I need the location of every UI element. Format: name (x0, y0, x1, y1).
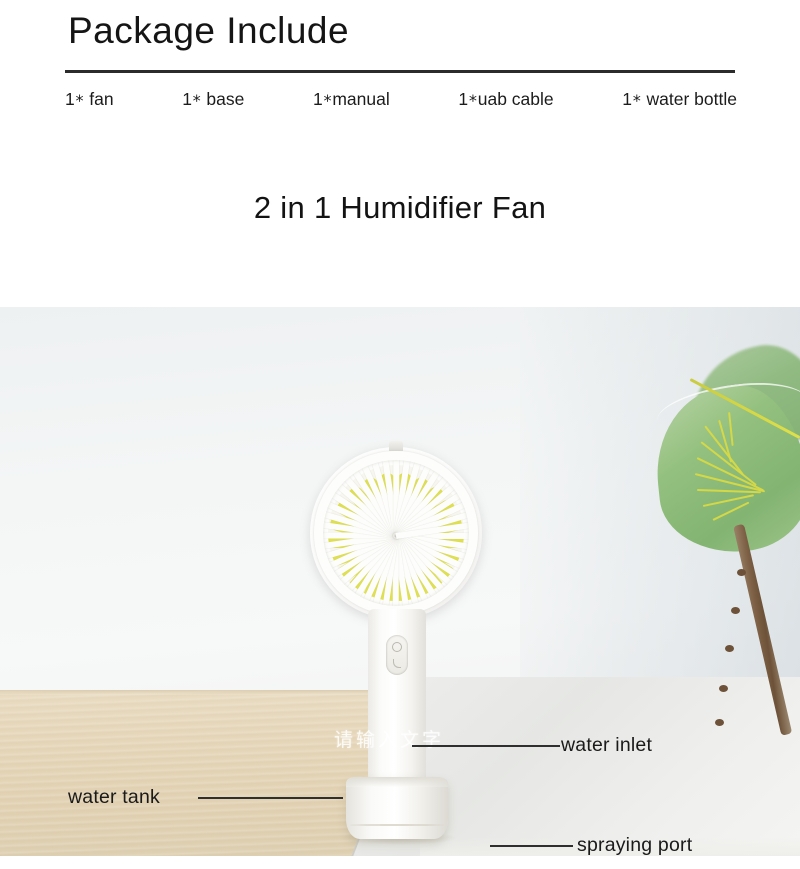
package-item-qty: 1 (622, 89, 632, 109)
stem-node (725, 645, 734, 652)
fan-outer-ring (314, 451, 478, 615)
watermark-text: 请输入文字 (334, 725, 444, 752)
package-item-qty: 1 (182, 89, 192, 109)
humidifier-fan-product (310, 447, 500, 847)
package-item-name: fan (84, 89, 113, 109)
package-item-name: manual (332, 89, 389, 109)
title-divider (65, 70, 735, 73)
package-item-qty: 1 (458, 89, 468, 109)
package-item-qty: 1 (65, 89, 75, 109)
package-item-name: uab cable (478, 89, 554, 109)
fan-base-lip (346, 777, 448, 787)
stem-node (715, 719, 724, 726)
package-item-name: base (202, 89, 245, 109)
header-section: Package Include 1* fan 1* base 1*manual … (0, 0, 800, 307)
page-title: Package Include (68, 10, 349, 52)
package-item: 1* water bottle (622, 89, 737, 110)
callout-water-inlet: water inlet (561, 734, 652, 757)
stem-node (719, 685, 728, 692)
leader-line-spraying-port (490, 845, 573, 847)
fiddle-leaf-plant (645, 307, 800, 737)
package-item-qty: 1 (313, 89, 323, 109)
package-item-name: water bottle (642, 89, 737, 109)
stem-node (737, 569, 746, 576)
fan-head (310, 447, 482, 619)
callout-water-tank: water tank (68, 786, 160, 809)
fan-handle (368, 609, 426, 787)
package-item-separator: * (323, 91, 333, 110)
package-item: 1*manual (313, 89, 390, 110)
plant-stem (733, 524, 792, 736)
humidifier-button-icon (393, 659, 401, 668)
fan-button-icon (392, 642, 402, 652)
package-item: 1* base (182, 89, 244, 110)
product-title: 2 in 1 Humidifier Fan (0, 190, 800, 226)
package-items-list: 1* fan 1* base 1*manual 1*uab cable 1* w… (65, 89, 737, 110)
leader-line-water-inlet (412, 745, 560, 747)
package-item-separator: * (75, 91, 85, 110)
package-item-separator: * (632, 91, 642, 110)
package-item: 1*uab cable (458, 89, 553, 110)
fan-base-seam (350, 824, 444, 826)
leader-line-water-tank (198, 797, 343, 799)
control-button-panel[interactable] (386, 635, 408, 675)
product-infographic: Package Include 1* fan 1* base 1*manual … (0, 0, 800, 869)
package-item-separator: * (192, 91, 202, 110)
callout-spraying-port: spraying port (577, 834, 692, 856)
product-photo: 请输入文字 water inlet water tank spraying po… (0, 307, 800, 856)
package-item-separator: * (468, 91, 478, 110)
stem-node (731, 607, 740, 614)
water-inlet-port (389, 441, 403, 451)
package-item: 1* fan (65, 89, 114, 110)
